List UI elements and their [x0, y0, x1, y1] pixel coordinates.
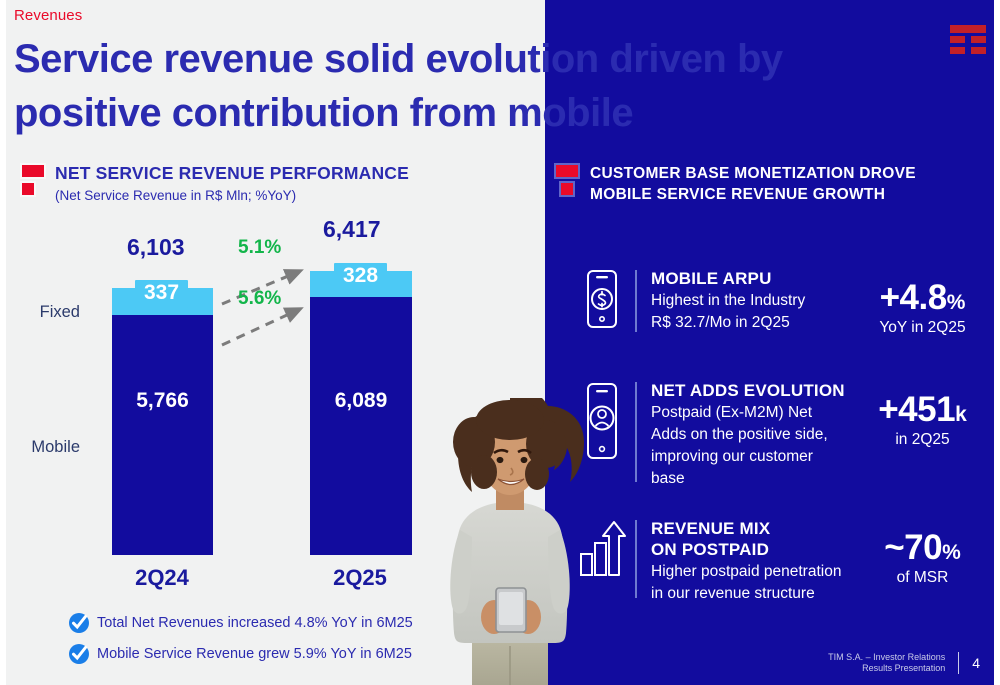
right-section-title-line1: CUSTOMER BASE MONETIZATION DROVE — [590, 163, 916, 184]
stat-desc-line: R$ 32.7/Mo in 2Q25 — [651, 312, 875, 333]
stat-divider — [635, 382, 637, 482]
right-section-header: CUSTOMER BASE MONETIZATION DROVE MOBILE … — [556, 163, 976, 205]
axis-label-mobile: Mobile — [0, 438, 80, 457]
stat-unit: k — [955, 403, 967, 426]
tim-logo-icon — [950, 25, 986, 55]
stat-divider — [635, 270, 637, 332]
stat-title: NET ADDS EVOLUTION — [651, 380, 875, 401]
stat-row-mobile-arpu: MOBILE ARPU Highest in the Industry R$ 3… — [575, 268, 875, 333]
bar-segment-mobile-2q25 — [310, 297, 412, 555]
stat-subtext: in 2Q25 — [860, 431, 985, 449]
stat-divider — [635, 520, 637, 598]
right-white-edge — [994, 0, 1000, 685]
stat-row-revenue-mix: REVENUE MIX ON POSTPAID Higher postpaid … — [575, 518, 885, 604]
stat-unit: % — [947, 291, 966, 314]
bullet-text: Total Net Revenues increased 4.8% YoY in… — [97, 615, 413, 631]
stat-desc-line: improving our customer — [651, 446, 875, 467]
bullet-item: Total Net Revenues increased 4.8% YoY in… — [68, 612, 413, 634]
right-section-title-line2: MOBILE SERVICE REVENUE GROWTH — [590, 184, 916, 205]
growth-label-mobile: 5.6% — [238, 288, 281, 310]
stat-title: ON POSTPAID — [651, 539, 885, 560]
stat-unit: % — [942, 541, 961, 564]
growth-label-total: 5.1% — [238, 237, 281, 259]
stat-value-mobile-arpu: +4.8% YoY in 2Q25 — [860, 278, 985, 337]
check-circle-icon — [68, 612, 90, 634]
stat-desc-line: Highest in the Industry — [651, 290, 875, 311]
stat-desc-line: in our revenue structure — [651, 583, 885, 604]
left-section-subtitle: (Net Service Revenue in R$ Mln; %YoY) — [55, 188, 409, 203]
bar-value-fixed-2q24: 337 — [135, 280, 188, 308]
stat-value: +451 — [878, 390, 955, 429]
check-circle-icon — [68, 643, 90, 665]
stat-value-net-adds: +451k in 2Q25 — [860, 390, 985, 449]
eyebrow-label: Revenues — [14, 7, 82, 24]
bullet-item: Mobile Service Revenue grew 5.9% YoY in … — [68, 643, 413, 665]
stat-value: ~70 — [884, 528, 942, 567]
bar-value-mobile-2q25: 6,089 — [310, 389, 412, 413]
red-square-marker-icon — [22, 163, 44, 197]
axis-label-fixed: Fixed — [0, 303, 80, 322]
bar-value-mobile-2q24: 5,766 — [112, 389, 213, 413]
smartphone-user-icon — [575, 380, 629, 462]
page-number: 4 — [972, 655, 980, 671]
stat-subtext: of MSR — [860, 569, 985, 587]
footer-divider — [958, 652, 959, 674]
left-section-title: NET SERVICE REVENUE PERFORMANCE — [55, 163, 409, 184]
bar-column-2q24: 5,766 — [112, 288, 213, 555]
bar-total-2q24: 6,103 — [127, 234, 185, 261]
stat-value: +4.8 — [880, 278, 947, 317]
stat-desc-line: Adds on the positive side, — [651, 424, 875, 445]
bar-column-2q25: 6,089 — [310, 271, 412, 555]
bar-value-fixed-2q25: 328 — [334, 263, 387, 291]
slide-canvas: Revenues Service revenue solid evolution… — [0, 0, 1000, 685]
bar-chart-arrow-icon — [575, 518, 629, 580]
bar-segment-mobile-2q24 — [112, 315, 213, 555]
left-section-header: NET SERVICE REVENUE PERFORMANCE (Net Ser… — [22, 163, 409, 203]
smartphone-dollar-icon — [575, 268, 629, 330]
stat-desc-line: Higher postpaid penetration — [651, 561, 885, 582]
stat-title: MOBILE ARPU — [651, 268, 875, 289]
footer-line2: Results Presentation — [828, 663, 945, 674]
left-bullets: Total Net Revenues increased 4.8% YoY in… — [68, 612, 413, 674]
page-title: Service revenue solid evolution driven b… — [14, 32, 914, 140]
stat-value-revenue-mix: ~70% of MSR — [860, 528, 985, 587]
red-square-marker-icon — [556, 163, 578, 197]
bar-total-2q25: 6,417 — [323, 216, 381, 243]
stat-desc-line: Postpaid (Ex-M2M) Net — [651, 402, 875, 423]
bar-category-2q25: 2Q25 — [300, 565, 420, 591]
bar-category-2q24: 2Q24 — [102, 565, 222, 591]
stat-desc-line: base — [651, 468, 875, 489]
woman-with-smartphone-photo — [424, 398, 600, 685]
bullet-text: Mobile Service Revenue grew 5.9% YoY in … — [97, 646, 412, 662]
footer-text: TIM S.A. – Investor Relations Results Pr… — [828, 652, 945, 674]
slide-footer: TIM S.A. – Investor Relations Results Pr… — [780, 652, 980, 674]
stat-row-net-adds: NET ADDS EVOLUTION Postpaid (Ex-M2M) Net… — [575, 380, 875, 489]
stat-title: REVENUE MIX — [651, 518, 885, 539]
footer-line1: TIM S.A. – Investor Relations — [828, 652, 945, 663]
stat-subtext: YoY in 2Q25 — [860, 319, 985, 337]
